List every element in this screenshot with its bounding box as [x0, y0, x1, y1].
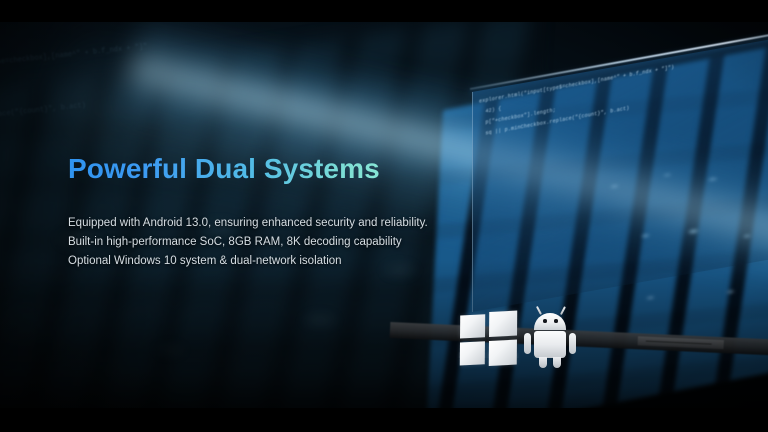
- os-logo-row: [455, 304, 595, 374]
- text-block: Powerful Dual Systems Equipped with Andr…: [68, 152, 428, 271]
- android-arm: [569, 333, 576, 354]
- android-arm: [524, 333, 531, 354]
- slide-canvas: type=checkbox],[name^" + b.f_ndx + "]" l…: [0, 0, 768, 432]
- windows-pane: [489, 340, 517, 366]
- list-item: Optional Windows 10 system & dual-networ…: [68, 252, 428, 271]
- feature-list: Equipped with Android 13.0, ensuring enh…: [68, 214, 428, 271]
- windows-pane: [460, 314, 485, 338]
- android-head: [534, 313, 566, 330]
- android-leg: [553, 357, 561, 368]
- windows-logo-icon: [460, 310, 518, 365]
- windows-pane: [489, 311, 517, 337]
- android-antenna: [536, 306, 542, 315]
- page-title: Powerful Dual Systems: [68, 152, 428, 186]
- letterbox-top: [0, 0, 768, 22]
- list-item: Equipped with Android 13.0, ensuring enh…: [68, 214, 428, 233]
- android-eye: [543, 319, 547, 323]
- list-item: Built-in high-performance SoC, 8GB RAM, …: [68, 233, 428, 252]
- letterbox-bottom: [0, 408, 768, 432]
- android-logo-icon: [521, 306, 579, 370]
- android-eye: [554, 319, 558, 323]
- windows-pane: [460, 341, 485, 365]
- android-leg: [539, 357, 547, 368]
- android-body: [534, 331, 566, 358]
- android-antenna: [560, 306, 566, 315]
